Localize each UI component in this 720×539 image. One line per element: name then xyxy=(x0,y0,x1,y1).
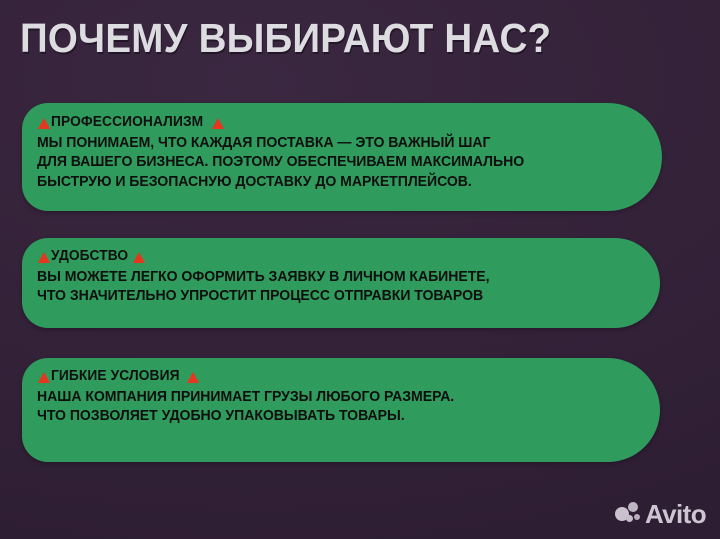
avito-dot-medium xyxy=(628,502,638,512)
red-triangle-icon xyxy=(212,118,224,129)
page-title: ПОЧЕМУ ВЫБИРАЮТ НАС? xyxy=(20,16,551,60)
card-heading: УДОБСТВО xyxy=(37,247,634,266)
benefit-card-flexible-terms: ГИБКИЕ УСЛОВИЯ НАША КОМПАНИЯ ПРИНИМАЕТ Г… xyxy=(22,358,660,462)
benefit-card-professionalism: ПРОФЕССИОНАЛИЗМ МЫ ПОНИМАЕМ, ЧТО КАЖДАЯ … xyxy=(22,103,662,211)
avito-dot-tiny xyxy=(634,514,640,520)
card-body: ВЫ МОЖЕТЕ ЛЕГКО ОФОРМИТЬ ЗАЯВКУ В ЛИЧНОМ… xyxy=(37,268,634,307)
card-heading: ПРОФЕССИОНАЛИЗМ xyxy=(37,113,636,132)
avito-dots-icon xyxy=(615,502,640,527)
card-body: МЫ ПОНИМАЕМ, ЧТО КАЖДАЯ ПОСТАВКА — ЭТО В… xyxy=(37,134,636,192)
benefit-card-convenience: УДОБСТВО ВЫ МОЖЕТЕ ЛЕГКО ОФОРМИТЬ ЗАЯВКУ… xyxy=(22,238,660,328)
card-body-line: МЫ ПОНИМАЕМ, ЧТО КАЖДАЯ ПОСТАВКА — ЭТО В… xyxy=(37,134,615,153)
card-heading-label: ГИБКИЕ УСЛОВИЯ xyxy=(51,367,180,386)
card-body-line: НАША КОМПАНИЯ ПРИНИМАЕТ ГРУЗЫ ЛЮБОГО РАЗ… xyxy=(37,388,613,407)
card-heading-label: УДОБСТВО xyxy=(51,247,128,266)
card-heading-label: ПРОФЕССИОНАЛИЗМ xyxy=(51,113,203,132)
slide-canvas: ПОЧЕМУ ВЫБИРАЮТ НАС? ПРОФЕССИОНАЛИЗМ МЫ … xyxy=(0,0,720,539)
card-body-line: ЧТО ПОЗВОЛЯЕТ УДОБНО УПАКОВЫВАТЬ ТОВАРЫ. xyxy=(37,407,613,426)
card-body-line: БЫСТРУЮ И БЕЗОПАСНУЮ ДОСТАВКУ ДО МАРКЕТП… xyxy=(37,173,615,192)
red-triangle-icon xyxy=(38,252,50,263)
card-body-line: ЧТО ЗНАЧИТЕЛЬНО УПРОСТИТ ПРОЦЕСС ОТПРАВК… xyxy=(37,287,613,306)
card-body-line: ДЛЯ ВАШЕГО БИЗНЕСА. ПОЭТОМУ ОБЕСПЕЧИВАЕМ… xyxy=(37,153,615,172)
card-body-line: ВЫ МОЖЕТЕ ЛЕГКО ОФОРМИТЬ ЗАЯВКУ В ЛИЧНОМ… xyxy=(37,268,613,287)
red-triangle-icon xyxy=(133,252,145,263)
card-heading: ГИБКИЕ УСЛОВИЯ xyxy=(37,367,634,386)
card-body: НАША КОМПАНИЯ ПРИНИМАЕТ ГРУЗЫ ЛЮБОГО РАЗ… xyxy=(37,388,634,427)
avito-wordmark: Avito xyxy=(645,501,706,527)
avito-dot-small xyxy=(626,515,633,522)
red-triangle-icon xyxy=(38,118,50,129)
avito-logo: Avito xyxy=(615,501,706,527)
red-triangle-icon xyxy=(187,372,199,383)
red-triangle-icon xyxy=(38,372,50,383)
